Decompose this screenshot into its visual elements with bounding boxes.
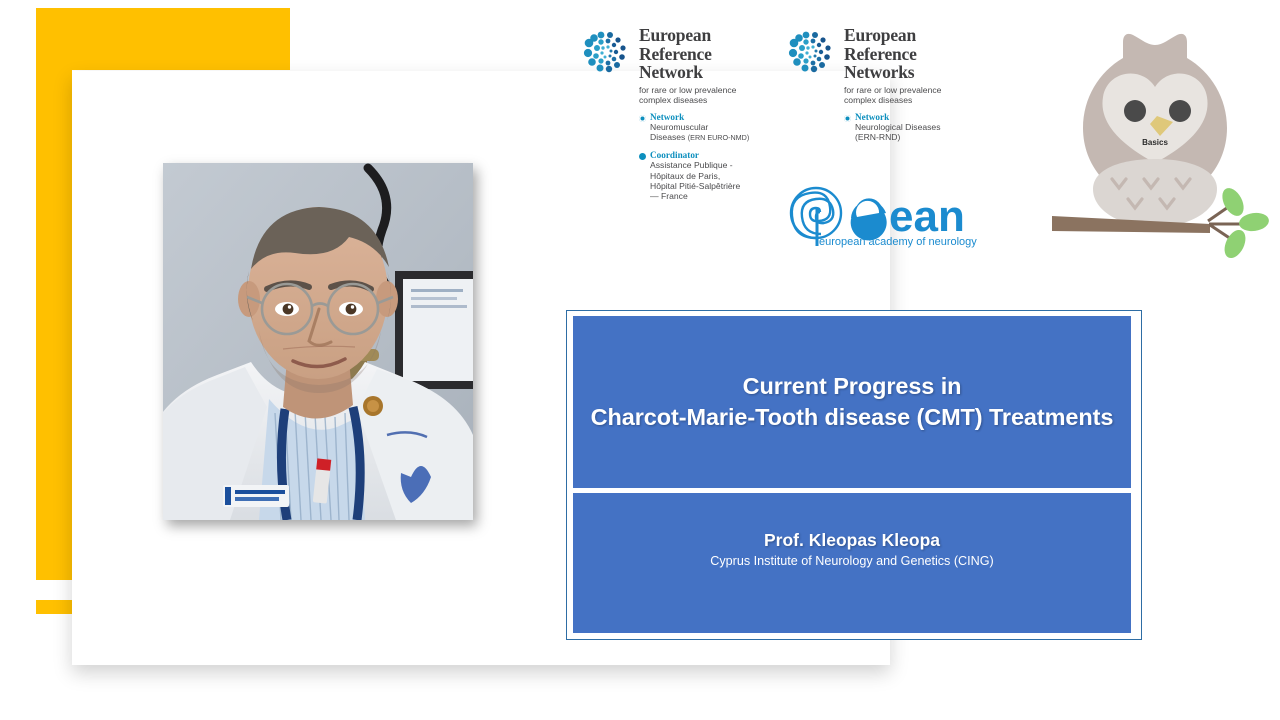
ern-coordinator-line2: Hôpitaux de Paris, (650, 171, 740, 181)
ern-network-code: (ERN EURO-NMD) (688, 133, 750, 142)
yellow-accent-dash (36, 600, 72, 614)
ern-coordinator-item: Coordinator Assistance Publique - Hôpita… (639, 150, 780, 201)
yellow-accent-left-bar (36, 8, 72, 580)
owl-eye-left (1124, 100, 1146, 122)
ern-network-code: (ERN-RND) (855, 132, 941, 142)
ern-tagline-line2: complex diseases (844, 95, 941, 105)
ern-network-label: Network (650, 112, 749, 122)
dot-bullet-icon (639, 153, 646, 160)
gear-bullet-icon (844, 115, 851, 122)
ern-rnd-logo: European Reference Networks for rare or … (785, 26, 985, 142)
ern-wordmark-line1: European (844, 26, 941, 45)
owl-logo: Basics (1030, 13, 1280, 263)
title-line-1: Current Progress in (591, 371, 1114, 402)
slide-canvas: European Reference Network for rare or l… (0, 0, 1280, 720)
title-line-2: Charcot-Marie-Tooth disease (CMT) Treatm… (591, 402, 1114, 433)
ern-dot-spiral-icon (785, 26, 837, 78)
ern-network-value-line1: Neuromuscular (650, 122, 749, 132)
ean-logo: ean european academy of neurology (783, 186, 998, 248)
ern-wordmark-line3: Networks (844, 63, 941, 82)
ean-tagline: european academy of neurology (819, 236, 977, 248)
ean-wordmark: ean (889, 192, 965, 241)
ern-wordmark-line3: Network (639, 63, 736, 82)
ern-dot-spiral-icon (580, 26, 632, 78)
speaker-name: Prof. Kleopas Kleopa (573, 529, 1131, 551)
speaker-info-box: Prof. Kleopas Kleopa Cyprus Institute of… (573, 493, 1131, 633)
ern-network-item: Network Neurological Diseases (ERN-RND) (844, 112, 985, 142)
ern-tagline-line1: for rare or low prevalence (639, 85, 736, 95)
speaker-portrait-photo (163, 163, 473, 520)
ern-coordinator-line1: Assistance Publique - (650, 160, 740, 170)
owl-eye-right (1169, 100, 1191, 122)
ern-wordmark-line2: Reference (844, 45, 941, 64)
ern-wordmark-line1: European (639, 26, 736, 45)
ern-network-label: Network (855, 112, 941, 122)
owl-basics-label: Basics (1030, 138, 1280, 147)
gear-bullet-icon (639, 115, 646, 122)
owl-belly (1093, 159, 1217, 227)
ern-tagline-line1: for rare or low prevalence (844, 85, 941, 95)
ern-network-item: Network Neuromuscular Diseases (ERN EURO… (639, 112, 780, 143)
ern-network-value-line1: Neurological Diseases (855, 122, 941, 132)
ern-coordinator-line4: — France (650, 191, 740, 201)
ern-tagline-line2: complex diseases (639, 95, 736, 105)
ern-wordmark-line2: Reference (639, 45, 736, 64)
logos-band: European Reference Network for rare or l… (575, 18, 1275, 268)
speaker-affiliation: Cyprus Institute of Neurology and Geneti… (573, 552, 1131, 570)
presentation-title-box: Current Progress in Charcot-Marie-Tooth … (573, 316, 1131, 488)
ern-coordinator-label: Coordinator (650, 150, 740, 160)
ern-euro-nmd-logo: European Reference Network for rare or l… (580, 26, 780, 201)
ern-coordinator-line3: Hôpital Pitié-Salpêtrière (650, 181, 740, 191)
yellow-accent-top-bar (36, 8, 290, 70)
ern-network-value-line2: Diseases (650, 132, 685, 142)
